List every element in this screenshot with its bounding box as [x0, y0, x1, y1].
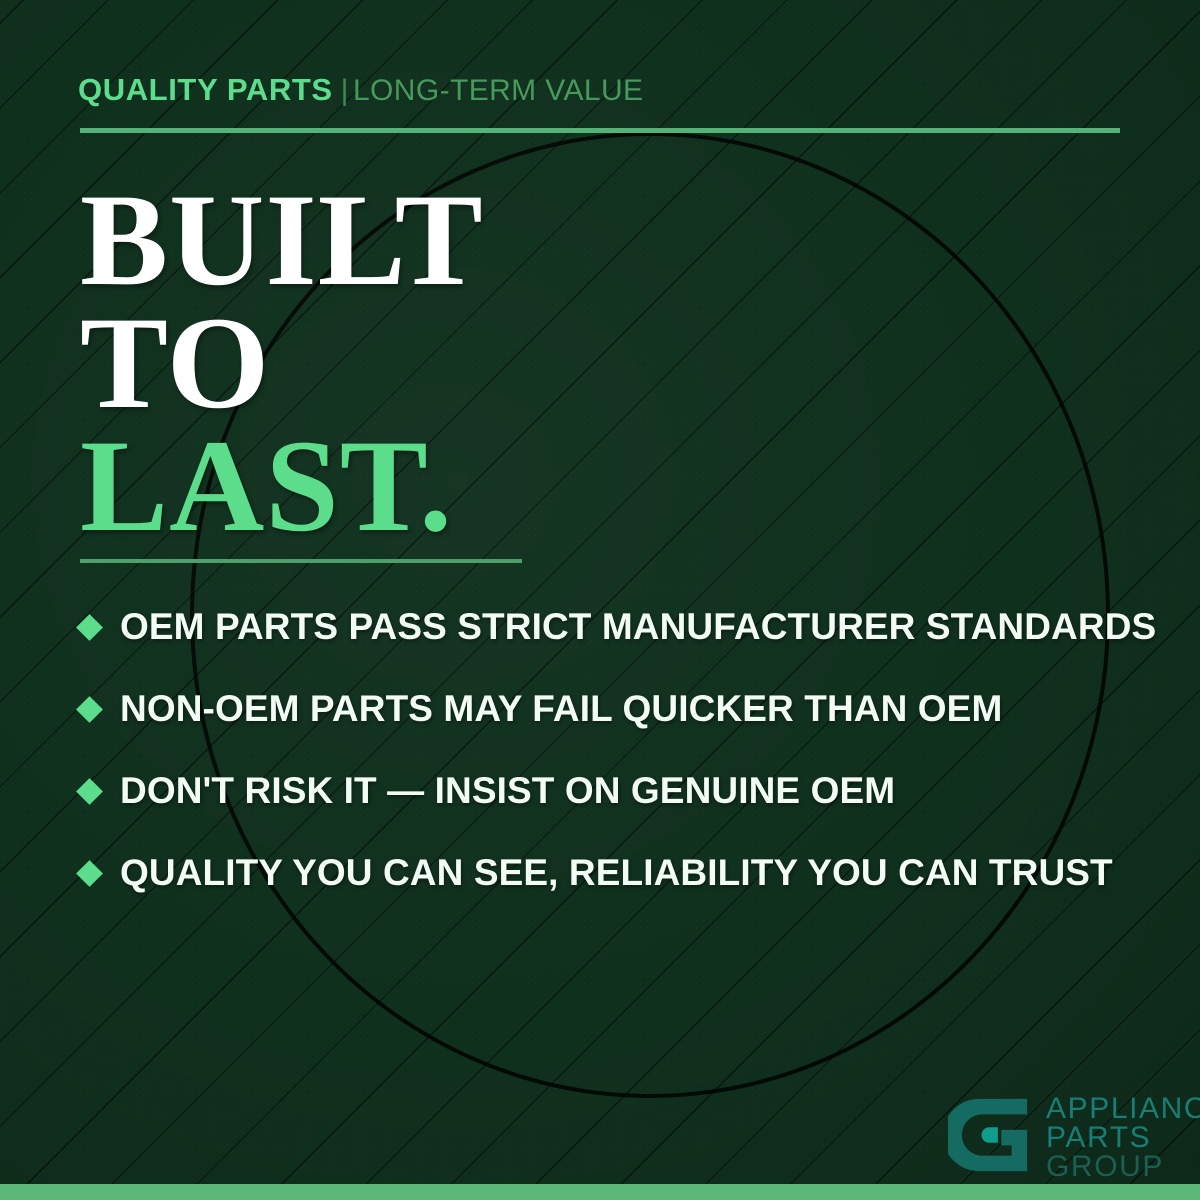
headline-line-2: TO — [80, 302, 484, 425]
benefits-list: OEM PARTS PASS STRICT MANUFACTURER STAND… — [80, 586, 1150, 914]
list-item: DON'T RISK IT — INSIST ON GENUINE OEM — [80, 750, 1150, 832]
eyebrow-separator: | — [341, 74, 349, 107]
diamond-icon — [76, 860, 103, 887]
list-item: NON-OEM PARTS MAY FAIL QUICKER THAN OEM — [80, 668, 1150, 750]
g-monogram-icon — [948, 1092, 1034, 1178]
eyebrow-header: QUALITY PARTS|LONG-TERM VALUE — [78, 72, 643, 108]
page-title: BUILT TO LAST. — [80, 179, 484, 547]
logo-word-1: APPLIANCE — [1046, 1094, 1200, 1123]
brand-logo: APPLIANCE PARTS GROUP — [948, 1092, 1200, 1181]
list-item-label: OEM PARTS PASS STRICT MANUFACTURER STAND… — [120, 606, 1156, 648]
list-item-label: NON-OEM PARTS MAY FAIL QUICKER THAN OEM — [120, 688, 1002, 730]
headline-line-3: LAST. — [80, 425, 484, 548]
logo-word-2: PARTS — [1046, 1123, 1200, 1152]
promo-poster: QUALITY PARTS|LONG-TERM VALUE BUILT TO L… — [0, 0, 1200, 1200]
headline-line-1: BUILT — [80, 179, 484, 302]
list-item-label: DON'T RISK IT — INSIST ON GENUINE OEM — [120, 770, 895, 812]
eyebrow-tagline: LONG-TERM VALUE — [353, 74, 644, 107]
bottom-accent-bar — [0, 1184, 1200, 1200]
eyebrow-brand-word: QUALITY PARTS — [78, 72, 333, 107]
list-item-label: QUALITY YOU CAN SEE, RELIABILITY YOU CAN… — [120, 852, 1113, 894]
diamond-icon — [76, 696, 103, 723]
list-item: OEM PARTS PASS STRICT MANUFACTURER STAND… — [80, 586, 1150, 668]
header-divider-rule — [80, 128, 1120, 133]
logo-wordmark: APPLIANCE PARTS GROUP — [1046, 1092, 1200, 1181]
headline-divider-rule — [80, 559, 522, 563]
list-item: QUALITY YOU CAN SEE, RELIABILITY YOU CAN… — [80, 832, 1150, 914]
diamond-icon — [76, 778, 103, 805]
logo-word-3: GROUP — [1046, 1152, 1200, 1181]
diamond-icon — [76, 614, 103, 641]
